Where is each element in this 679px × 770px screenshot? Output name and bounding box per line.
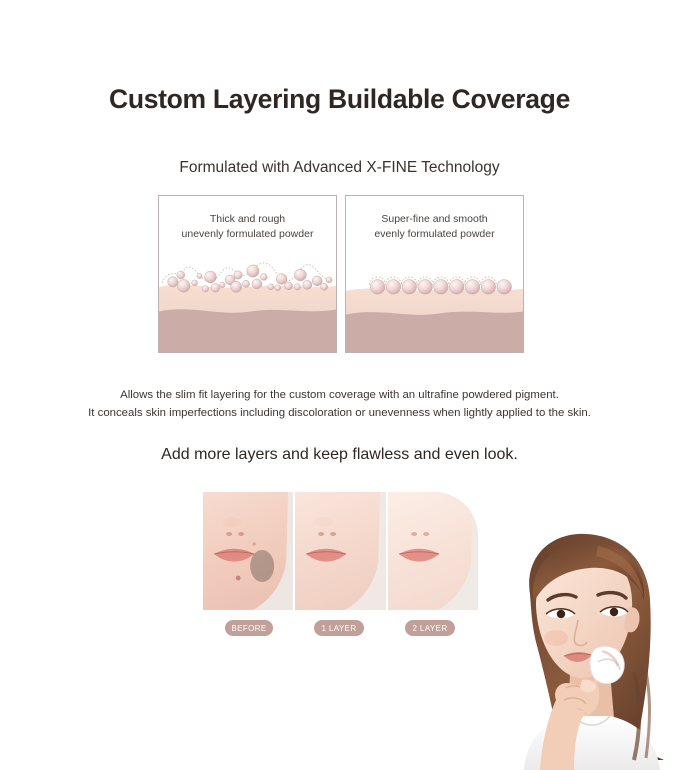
before-after-photo-strip bbox=[203, 492, 478, 610]
face-closeup-one-layer bbox=[295, 492, 385, 610]
cta-text: Add more layers and keep flawless and ev… bbox=[0, 446, 679, 464]
model-applying-cushion-illustration bbox=[478, 522, 679, 770]
page-subtitle: Formulated with Advanced X-FINE Technolo… bbox=[0, 159, 679, 177]
face-closeup-before bbox=[203, 492, 293, 610]
photo-two-layer bbox=[386, 492, 478, 610]
badge-two-layer: 2 LAYER bbox=[405, 620, 455, 636]
page-title: Custom Layering Buildable Coverage bbox=[0, 84, 679, 115]
photo-one-layer bbox=[293, 492, 385, 610]
face-closeup-two-layer bbox=[388, 492, 478, 610]
product-detail-page: Custom Layering Buildable Coverage Formu… bbox=[0, 0, 679, 770]
model-photo bbox=[478, 522, 679, 770]
photo-before bbox=[203, 492, 293, 610]
panel-even-caption: Super-fine and smooth evenly formulated … bbox=[346, 212, 523, 242]
badge-before: BEFORE bbox=[225, 620, 273, 636]
body-copy: Allows the slim fit layering for the cus… bbox=[0, 386, 679, 422]
panel-uneven-powder: Thick and rough unevenly formulated powd… bbox=[158, 195, 337, 353]
panel-even-powder: Super-fine and smooth evenly formulated … bbox=[345, 195, 524, 353]
panel-uneven-caption: Thick and rough unevenly formulated powd… bbox=[159, 212, 336, 242]
powder-comparison-diagram: Thick and rough unevenly formulated powd… bbox=[158, 195, 524, 353]
badge-one-layer: 1 LAYER bbox=[314, 620, 364, 636]
